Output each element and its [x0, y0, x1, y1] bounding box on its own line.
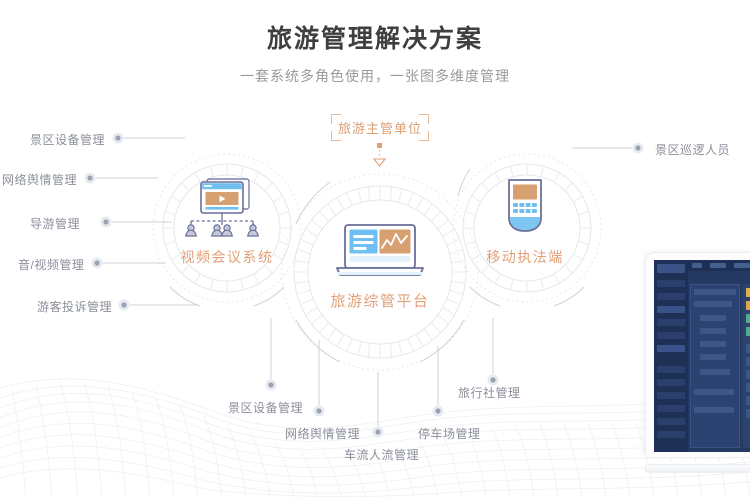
spoke-label-bottom-4[interactable]: 停车场管理 — [418, 425, 481, 442]
connector-bottom-3 — [373, 372, 384, 438]
connector-right-1 — [572, 143, 644, 154]
spoke-label-bottom-1[interactable]: 景区设备管理 — [228, 399, 303, 416]
spoke-label-right-1[interactable]: 景区巡逻人员 — [655, 141, 730, 158]
node-mobile-enforcement[interactable]: 移动执法端 — [465, 176, 585, 267]
badge-corner-bl — [331, 131, 341, 141]
authority-badge-label: 旅游主管单位 — [338, 118, 422, 137]
dashboard-menu-item — [657, 379, 685, 386]
spoke-label-bottom-2[interactable]: 网络舆情管理 — [285, 425, 360, 442]
authority-badge[interactable]: 旅游主管单位 — [331, 114, 429, 141]
spoke-label-bottom-5[interactable]: 旅行社管理 — [458, 384, 521, 401]
connector-left-1 — [113, 133, 186, 144]
device-screen-dashboard — [654, 260, 750, 452]
dashboard-menu-item — [657, 293, 685, 300]
dashboard-menu-item — [657, 319, 685, 326]
connector-left-2 — [85, 173, 159, 184]
badge-corner-br — [419, 131, 429, 141]
infographic-canvas: 旅游管理解决方案 一套系统多角色使用，一张图多维度管理 旅游主管单位 — [0, 0, 750, 498]
device-mockup — [645, 252, 750, 458]
connector-left-3 — [101, 217, 173, 228]
spoke-label-left-3[interactable]: 导游管理 — [30, 215, 80, 232]
dashboard-menu-item — [657, 345, 685, 352]
spoke-label-bottom-3[interactable]: 车流人流管理 — [344, 446, 419, 463]
authority-arrow-icon — [374, 143, 385, 166]
spoke-label-left-1[interactable]: 景区设备管理 — [30, 131, 105, 148]
spoke-label-left-2[interactable]: 网络舆情管理 — [2, 171, 77, 188]
dashboard-menu-item — [657, 306, 685, 313]
dashboard-menu-item — [657, 280, 685, 287]
dashboard-filter-bar — [690, 273, 750, 281]
laptop-dashboard-icon — [315, 223, 445, 281]
spoke-label-left-5[interactable]: 游客投诉管理 — [37, 298, 112, 315]
node-tourism-platform-label: 旅游综管平台 — [315, 290, 445, 311]
connector-left-4 — [92, 258, 167, 269]
page-subtitle: 一套系统多角色使用，一张图多维度管理 — [0, 54, 750, 86]
handheld-device-icon — [465, 176, 585, 238]
node-tourism-platform[interactable]: 旅游综管平台 — [315, 223, 445, 311]
dashboard-sidebar — [654, 260, 688, 452]
dashboard-menu-item — [657, 392, 685, 399]
dashboard-menu-item — [657, 405, 685, 412]
dashboard-tree-panel — [690, 284, 740, 448]
dashboard-menu-item — [657, 418, 685, 425]
device-frame — [645, 252, 750, 458]
dashboard-menu-item — [657, 332, 685, 339]
node-video-conference-label: 视频会议系统 — [167, 247, 287, 267]
connector-bottom-2 — [314, 340, 325, 417]
connector-bottom-4 — [433, 346, 444, 417]
dashboard-side-panel — [743, 284, 750, 448]
dashboard-topbar — [688, 260, 750, 271]
badge-corner-tr — [419, 114, 429, 124]
connector-bottom-1 — [266, 318, 277, 391]
connector-left-5 — [119, 300, 197, 311]
spoke-label-left-4[interactable]: 音/视频管理 — [18, 256, 84, 273]
page-title: 旅游管理解决方案 — [0, 0, 750, 54]
node-mobile-enforcement-label: 移动执法端 — [465, 247, 585, 267]
node-video-conference[interactable]: 视频会议系统 — [167, 176, 287, 267]
dashboard-menu-item — [657, 431, 685, 438]
dashboard-brand-logo — [657, 264, 685, 273]
dashboard-menu-item — [657, 366, 685, 373]
connector-bottom-5 — [488, 318, 499, 386]
badge-corner-tl — [331, 114, 341, 124]
video-window-icon — [167, 176, 287, 238]
device-base — [645, 464, 750, 473]
header: 旅游管理解决方案 一套系统多角色使用，一张图多维度管理 — [0, 0, 750, 86]
